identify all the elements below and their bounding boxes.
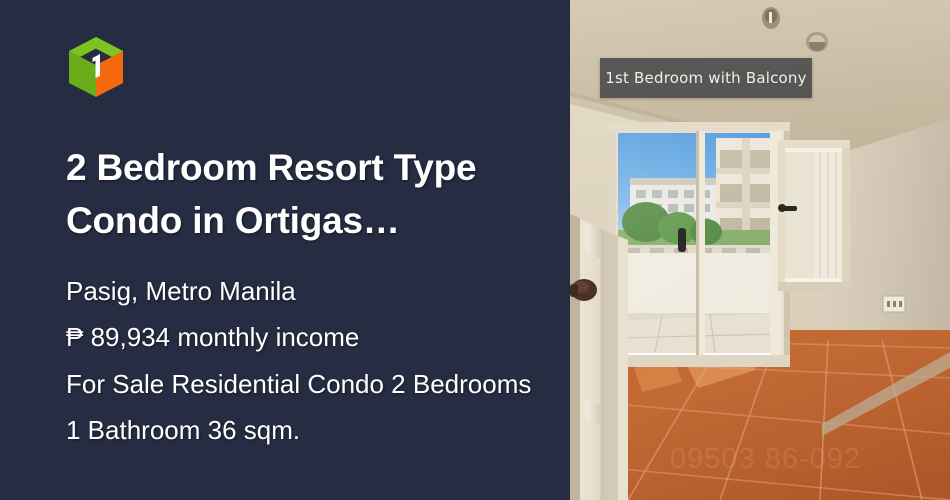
photo-caption-text: 1st Bedroom with Balcony [605,69,806,87]
listing-location: Pasig, Metro Manila [66,268,546,314]
property-listing-card: 2 Bedroom Resort Type Condo in Ortigas… … [0,0,950,500]
listing-description: For Sale Residential Condo 2 Bedrooms 1 … [66,361,546,454]
power-outlet [883,296,905,312]
listing-info-panel: 2 Bedroom Resort Type Condo in Ortigas… … [0,0,570,500]
listing-photo[interactable]: 1st Bedroom with Balcony 09503 86-092 [570,0,950,500]
photo-caption-banner: 1st Bedroom with Balcony [600,58,812,98]
ceiling-fixture [806,32,828,52]
page-title: 2 Bedroom Resort Type Condo in Ortigas… [66,142,536,247]
listing-meta: Pasig, Metro Manila ₱ 89,934 monthly inc… [66,268,546,453]
ceiling-fixture [762,7,780,29]
listing-income: ₱ 89,934 monthly income [66,314,546,360]
house-one-logo-icon[interactable] [66,36,126,98]
